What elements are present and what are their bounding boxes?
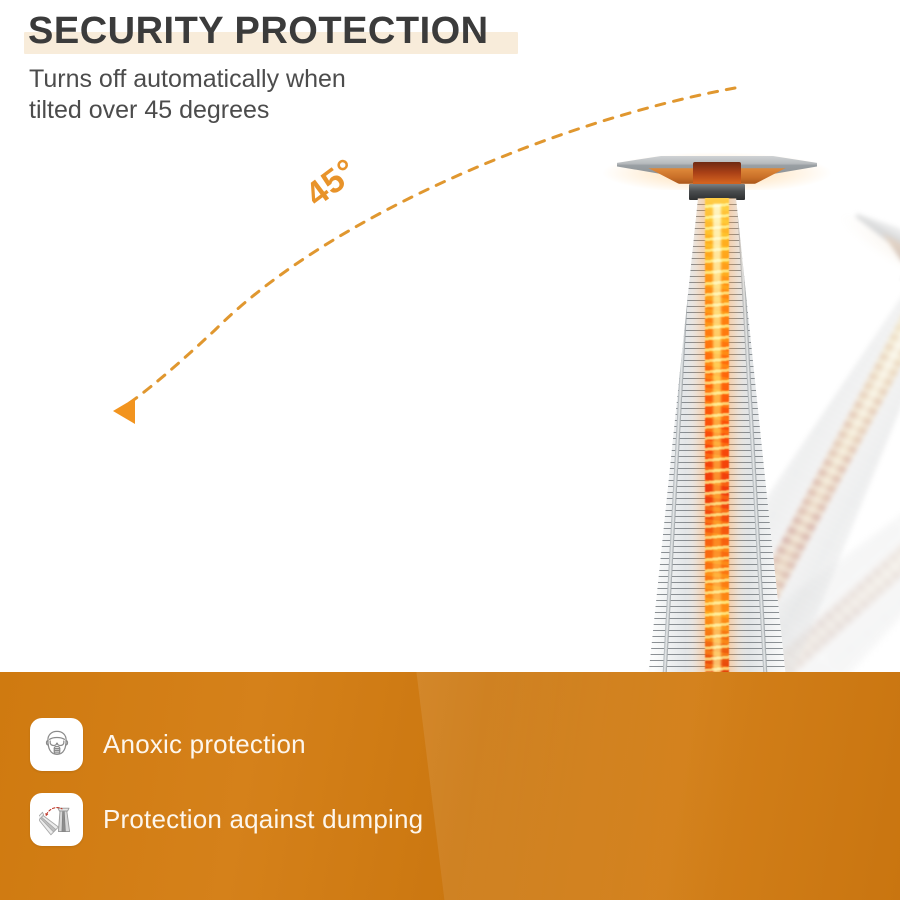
heater-neck-bracket xyxy=(689,184,745,200)
mesh-edge-left xyxy=(617,198,620,708)
heater-top-reflector xyxy=(617,148,817,188)
page-title-wrap: SECURITY PROTECTION xyxy=(28,8,489,56)
tip-over-heater-icon xyxy=(39,802,75,838)
ghost1-cap xyxy=(845,201,900,329)
infographic-canvas: 45° SECURITY PROTECTION Turns off automa… xyxy=(0,0,900,900)
angle-label: 45° xyxy=(299,151,366,215)
flame-column xyxy=(705,198,729,708)
page-title: SECURITY PROTECTION xyxy=(28,8,489,54)
mesh-edge-right xyxy=(814,198,817,708)
feature-band xyxy=(0,672,900,900)
feature-label: Protection aqainst dumping xyxy=(103,804,423,835)
page-subtitle: Turns off automatically when tilted over… xyxy=(29,64,449,126)
tilt-arrow-head xyxy=(113,398,135,424)
feature-row-anoxic-protection: Anoxic protection xyxy=(30,718,306,771)
feature-icon-badge xyxy=(30,793,83,846)
feature-icon-badge xyxy=(30,718,83,771)
heater-mesh-tower xyxy=(617,198,817,708)
feature-label: Anoxic protection xyxy=(103,729,306,760)
flame-flicker xyxy=(705,198,729,708)
band-glow xyxy=(409,672,870,900)
gas-mask-icon xyxy=(40,728,74,762)
feature-row-protection-against-dumping: Protection aqainst dumping xyxy=(30,793,423,846)
